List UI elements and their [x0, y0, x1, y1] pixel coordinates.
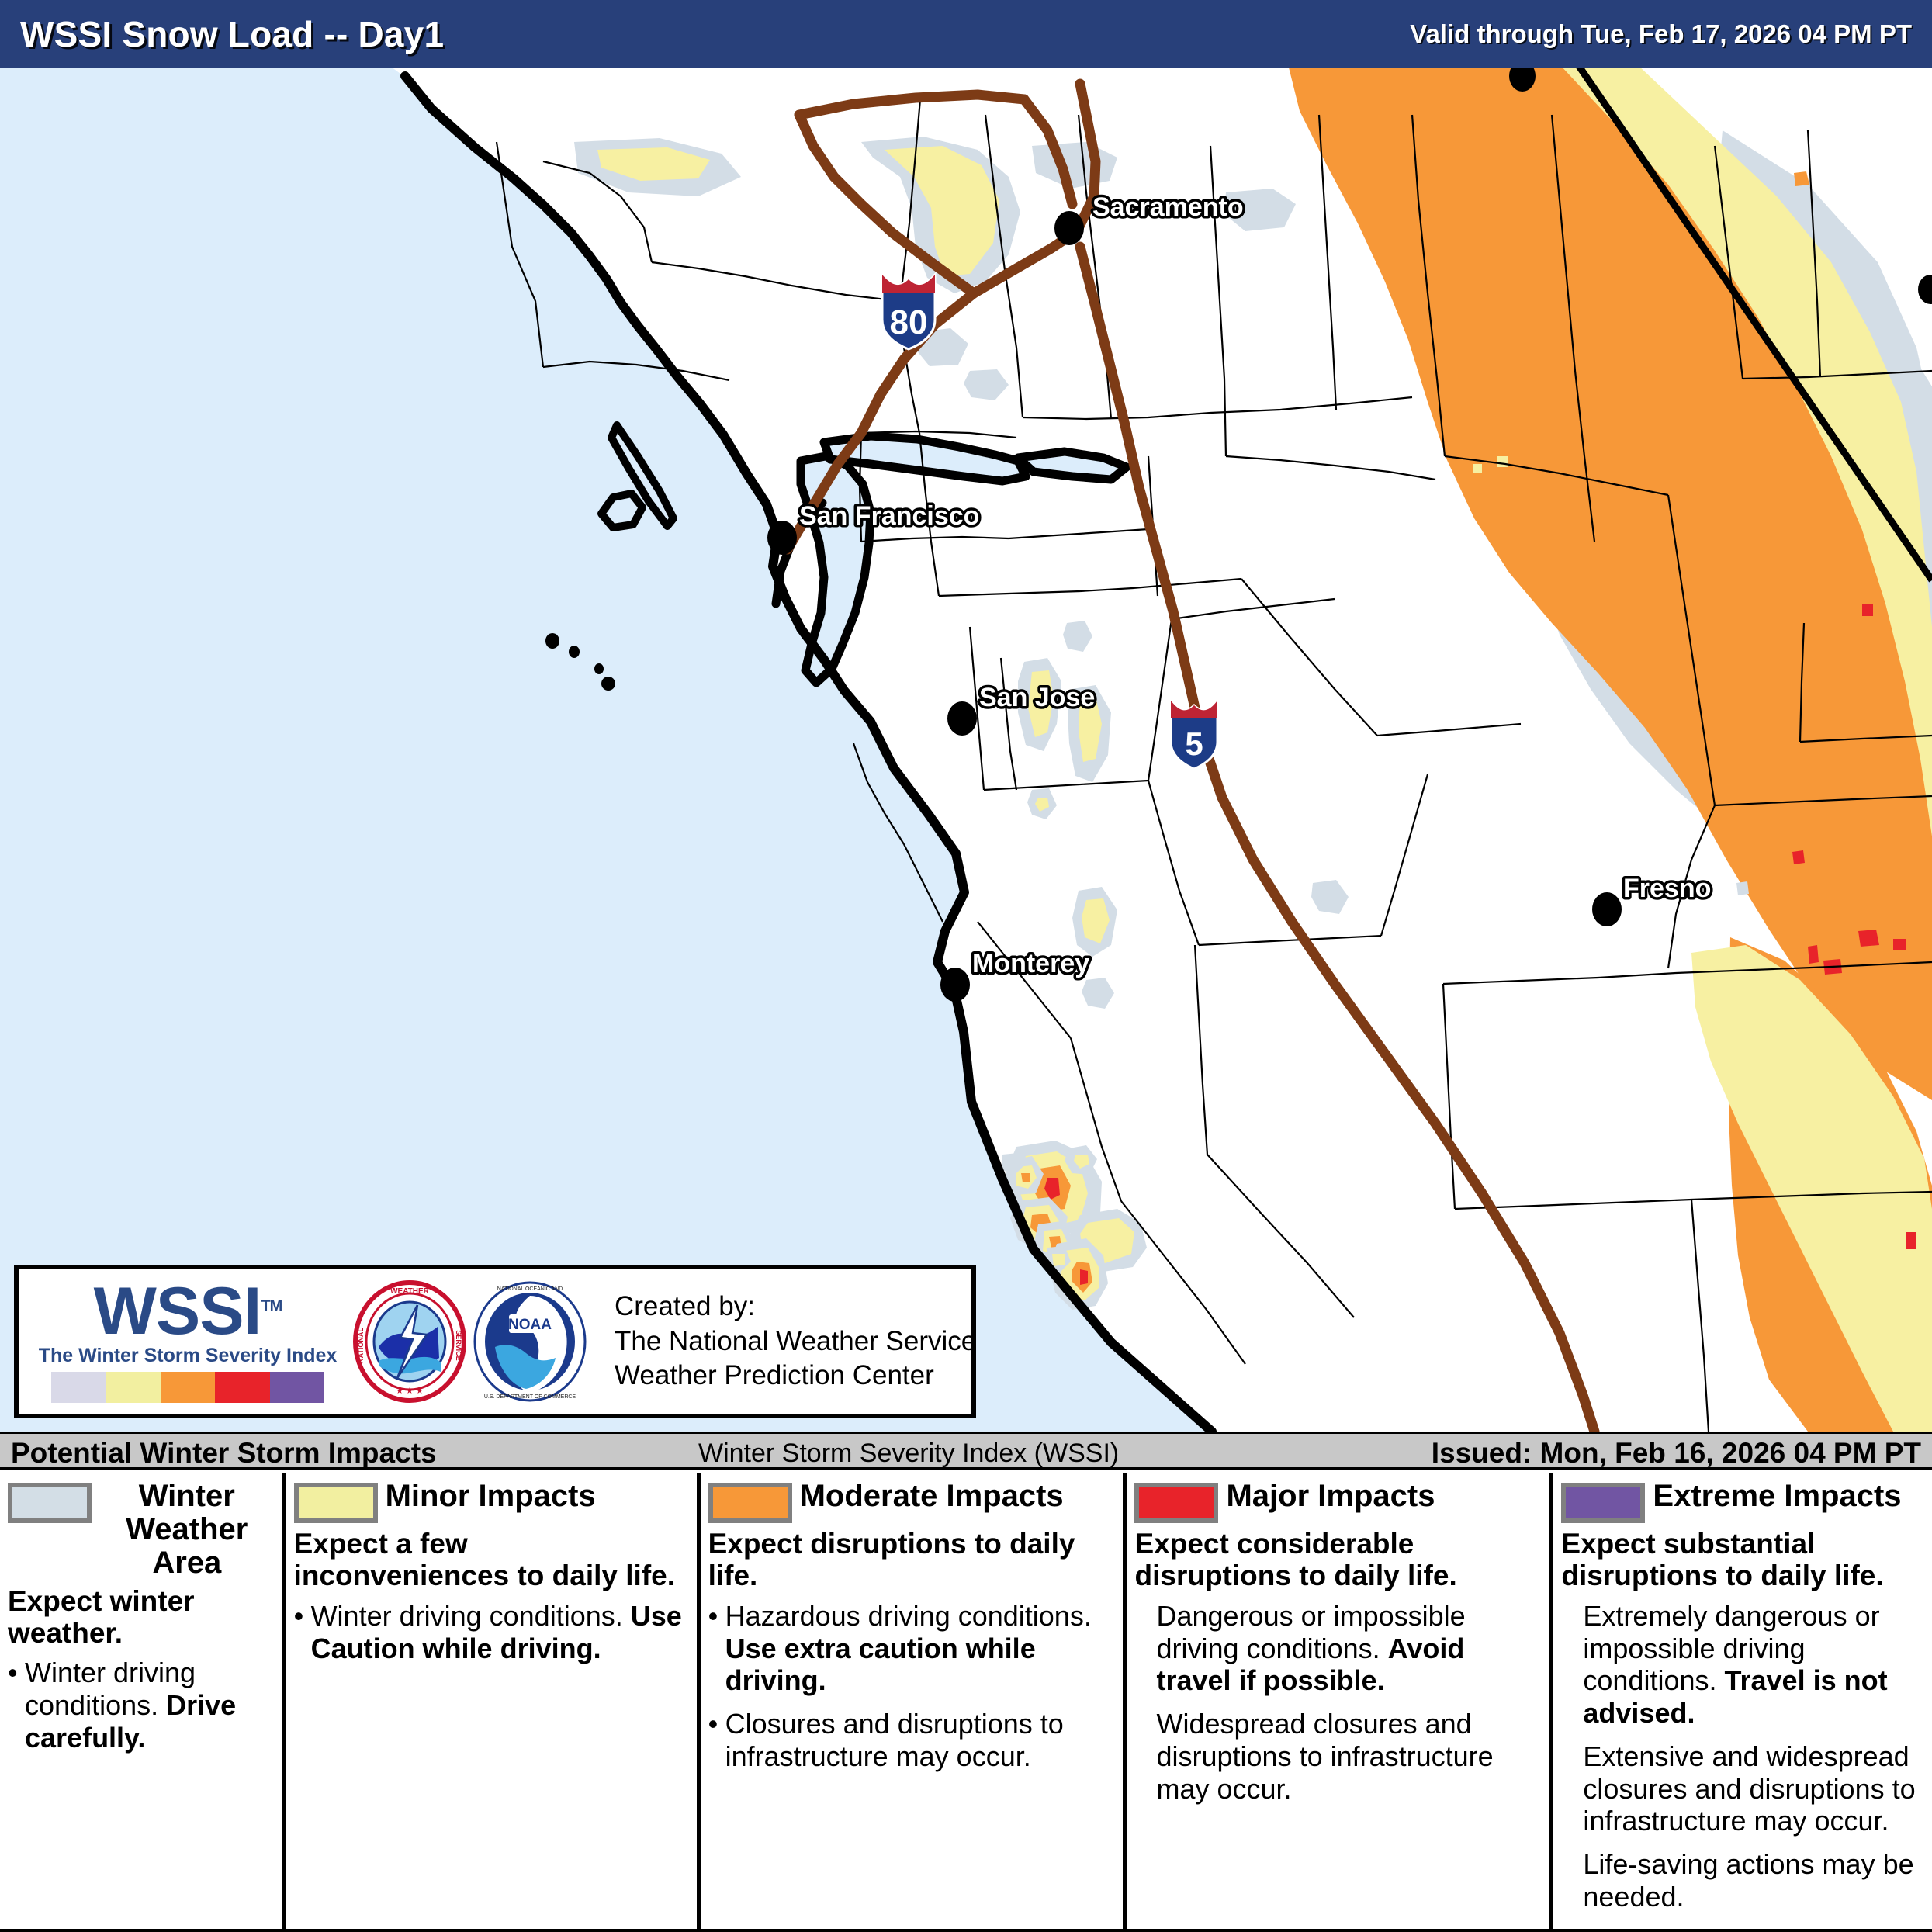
- city-dot-san-francisco: [767, 521, 797, 555]
- legend-bullet-text: Widespread closures and disruptions to i…: [1156, 1708, 1542, 1805]
- legend-title-moderate-impacts: Moderate Impacts: [800, 1480, 1116, 1513]
- wssi-tagline: The Winter Storm Severity Index: [39, 1345, 338, 1367]
- wssi-color-swatch-major: [215, 1372, 269, 1403]
- svg-text:SERVICE: SERVICE: [455, 1330, 462, 1360]
- created-by-center: Weather Prediction Center: [615, 1359, 976, 1394]
- legend-bullet-text: Extremely dangerous or impossible drivin…: [1583, 1600, 1924, 1729]
- legend-bullet-item: •Winter driving conditions. Drive carefu…: [8, 1657, 275, 1754]
- legend-bullet-text: Life-saving actions may be needed.: [1583, 1848, 1924, 1913]
- svg-text:WEATHER: WEATHER: [390, 1287, 430, 1296]
- status-bar: Potential Winter Storm Impacts Winter St…: [0, 1432, 1932, 1470]
- impact-patch-santa-lucia-8r: [1080, 1269, 1088, 1285]
- city-label-fresno: Fresno: [1623, 874, 1711, 903]
- status-bar-issued: Issued: Mon, Feb 16, 2026 04 PM PT: [1432, 1437, 1921, 1470]
- status-bar-left-title: Potential Winter Storm Impacts: [11, 1437, 437, 1470]
- valid-through-text: Valid through Tue, Feb 17, 2026 04 PM PT: [1410, 19, 1912, 49]
- legend-bullet-item: •Life-saving actions may be needed.: [1561, 1848, 1924, 1913]
- nws-seal-icon: ★ ★ ★ WEATHER NATIONAL SERVICE: [352, 1280, 467, 1403]
- wssi-color-bar: [51, 1372, 324, 1403]
- status-bar-center-title: Winter Storm Severity Index (WSSI): [698, 1439, 1119, 1469]
- svg-text:80: 80: [890, 303, 928, 341]
- legend-bullet-item: •Widespread closures and disruptions to …: [1134, 1708, 1542, 1805]
- legend-bullet-text: Hazardous driving conditions. Use extra …: [725, 1600, 1116, 1697]
- svg-text:NATIONAL: NATIONAL: [357, 1328, 365, 1363]
- legend-bullet-text: Dangerous or impossible driving conditio…: [1156, 1600, 1542, 1697]
- legend-swatch-major-impacts: [1134, 1483, 1218, 1523]
- city-label-monterey: Monterey: [972, 949, 1089, 978]
- legend-bullet-item: •Extremely dangerous or impossible drivi…: [1561, 1600, 1924, 1729]
- svg-text:U.S. DEPARTMENT OF COMMERCE: U.S. DEPARTMENT OF COMMERCE: [484, 1394, 576, 1400]
- wssi-logo-box: WSSITM The Winter Storm Severity Index ★: [14, 1265, 976, 1418]
- legend-header-extreme-impacts: Extreme Impacts: [1561, 1480, 1924, 1523]
- legend-column-major-impacts: Major ImpactsExpect considerable disrupt…: [1127, 1473, 1553, 1929]
- interstate-shield-80: 80: [882, 275, 935, 349]
- impact-dot-d: [1893, 995, 1916, 1018]
- created-by-block: Created by: The National Weather Service…: [615, 1290, 976, 1394]
- legend-bullet-item: •Hazardous driving conditions. Use extra…: [708, 1600, 1116, 1697]
- impact-spot-major-1: [1862, 604, 1873, 616]
- wssi-brand: WSSITM The Winter Storm Severity Index: [40, 1280, 335, 1404]
- legend-swatch-extreme-impacts: [1561, 1483, 1645, 1523]
- wssi-snow-load-map-page: WSSI Snow Load -- Day1 Valid through Tue…: [0, 0, 1932, 1932]
- legend-swatch-moderate-impacts: [708, 1483, 792, 1523]
- impact-spot-major-7: [1906, 1232, 1916, 1249]
- city-label-san-jose: San Jose: [979, 683, 1095, 712]
- created-by-agency: The National Weather Service: [615, 1324, 976, 1359]
- legend-bullet-item: •Extensive and widespread closures and d…: [1561, 1740, 1924, 1837]
- impact-dot-a: [1497, 456, 1508, 467]
- legend-column-winter-weather-area: Winter Weather AreaExpect winter weather…: [0, 1473, 286, 1929]
- legend-lead-minor-impacts: Expect a few inconveniences to daily lif…: [294, 1528, 689, 1592]
- svg-text:★ ★ ★: ★ ★ ★: [396, 1387, 424, 1396]
- impact-spot-major-2: [1792, 850, 1805, 864]
- legend-bullet-text: Closures and disruptions to infrastructu…: [725, 1708, 1116, 1773]
- bullet-icon: •: [708, 1600, 725, 1697]
- legend-bullet-item: •Closures and disruptions to infrastruct…: [708, 1708, 1116, 1773]
- impact-patch-santa-lucia-9y: [1052, 1254, 1065, 1266]
- legend-header-winter-weather-area: Winter Weather Area: [8, 1480, 275, 1581]
- wssi-wordmark-text: WSSI: [94, 1274, 261, 1349]
- agency-seals: ★ ★ ★ WEATHER NATIONAL SERVICE NOAA NATI…: [352, 1280, 588, 1403]
- bullet-icon: •: [8, 1657, 25, 1754]
- wssi-color-swatch-winter: [51, 1372, 106, 1403]
- legend-lead-winter-weather-area: Expect winter weather.: [8, 1585, 275, 1650]
- legend-column-moderate-impacts: Moderate ImpactsExpect disruptions to da…: [701, 1473, 1127, 1929]
- legend-bullets-major-impacts: •Dangerous or impossible driving conditi…: [1134, 1600, 1542, 1806]
- bullet-icon: •: [294, 1600, 311, 1665]
- map-canvas[interactable]: 80 5 Sacramento San Francisco San Jose: [0, 68, 1932, 1432]
- page-header: WSSI Snow Load -- Day1 Valid through Tue…: [0, 0, 1932, 68]
- impact-dot-g: [1736, 881, 1749, 895]
- legend-bullets-extreme-impacts: •Extremely dangerous or impossible drivi…: [1561, 1600, 1924, 1913]
- legend-bullet-item: •Dangerous or impossible driving conditi…: [1134, 1600, 1542, 1697]
- legend-bullets-moderate-impacts: •Hazardous driving conditions. Use extra…: [708, 1600, 1116, 1773]
- legend-lead-major-impacts: Expect considerable disruptions to daily…: [1134, 1528, 1542, 1592]
- impact-spot-major-3: [1858, 930, 1879, 947]
- legend-header-moderate-impacts: Moderate Impacts: [708, 1480, 1116, 1523]
- impact-patch-santa-lucia-2o: [1021, 1173, 1030, 1182]
- wssi-color-swatch-moderate: [161, 1372, 215, 1403]
- city-dot-monterey: [940, 968, 970, 1002]
- impact-spot-major-4: [1893, 939, 1906, 950]
- noaa-seal-text: NOAA: [508, 1317, 552, 1333]
- city-label-san-francisco: San Francisco: [799, 501, 979, 531]
- impact-dot-b: [1473, 464, 1482, 473]
- legend-bullet-item: •Winter driving conditions. Use Caution …: [294, 1600, 689, 1665]
- legend-header-minor-impacts: Minor Impacts: [294, 1480, 689, 1523]
- city-label-sacramento: Sacramento: [1092, 192, 1244, 222]
- map-graphic: 80 5 Sacramento San Francisco San Jose: [0, 68, 1932, 1432]
- legend-header-major-impacts: Major Impacts: [1134, 1480, 1542, 1523]
- legend-bullets-winter-weather-area: •Winter driving conditions. Drive carefu…: [8, 1657, 275, 1754]
- wssi-color-swatch-extreme: [270, 1372, 324, 1403]
- city-dot-san-jose: [947, 701, 977, 736]
- legend-title-minor-impacts: Minor Impacts: [386, 1480, 689, 1513]
- page-title: WSSI Snow Load -- Day1: [20, 13, 444, 55]
- city-dot-sacramento: [1054, 211, 1084, 245]
- svg-text:5: 5: [1185, 725, 1203, 762]
- legend-title-winter-weather-area: Winter Weather Area: [99, 1480, 275, 1581]
- legend-swatch-winter-weather-area: [8, 1483, 92, 1523]
- legend-lead-moderate-impacts: Expect disruptions to daily life.: [708, 1528, 1116, 1592]
- legend-column-minor-impacts: Minor ImpactsExpect a few inconveniences…: [286, 1473, 701, 1929]
- impact-spot-major-6: [1808, 945, 1819, 964]
- legend-bullet-text: Winter driving conditions. Drive careful…: [25, 1657, 275, 1754]
- legend-bullets-minor-impacts: •Winter driving conditions. Use Caution …: [294, 1600, 689, 1665]
- wssi-trademark: TM: [261, 1297, 282, 1314]
- legend-swatch-minor-impacts: [294, 1483, 378, 1523]
- created-by-label: Created by:: [615, 1290, 976, 1324]
- city-dot-fresno: [1592, 892, 1622, 926]
- legend-title-extreme-impacts: Extreme Impacts: [1653, 1480, 1924, 1513]
- legend-lead-extreme-impacts: Expect substantial disruptions to daily …: [1561, 1528, 1924, 1592]
- svg-text:NATIONAL OCEANIC AND: NATIONAL OCEANIC AND: [497, 1286, 563, 1292]
- legend-title-major-impacts: Major Impacts: [1226, 1480, 1542, 1513]
- legend-column-extreme-impacts: Extreme ImpactsExpect substantial disrup…: [1553, 1473, 1932, 1929]
- impact-legend: Winter Weather AreaExpect winter weather…: [0, 1473, 1932, 1932]
- wssi-wordmark: WSSITM: [94, 1280, 282, 1344]
- impact-dot-c: [1804, 881, 1828, 909]
- interstate-shield-5: 5: [1171, 701, 1217, 769]
- impact-dot-f: [1649, 234, 1662, 248]
- wssi-color-swatch-minor: [106, 1372, 160, 1403]
- legend-bullet-text: Winter driving conditions. Use Caution w…: [311, 1600, 689, 1665]
- legend-bullet-text: Extensive and widespread closures and di…: [1583, 1740, 1924, 1837]
- bullet-icon: •: [708, 1708, 725, 1773]
- noaa-seal-icon: NOAA NATIONAL OCEANIC AND U.S. DEPARTMEN…: [472, 1280, 588, 1403]
